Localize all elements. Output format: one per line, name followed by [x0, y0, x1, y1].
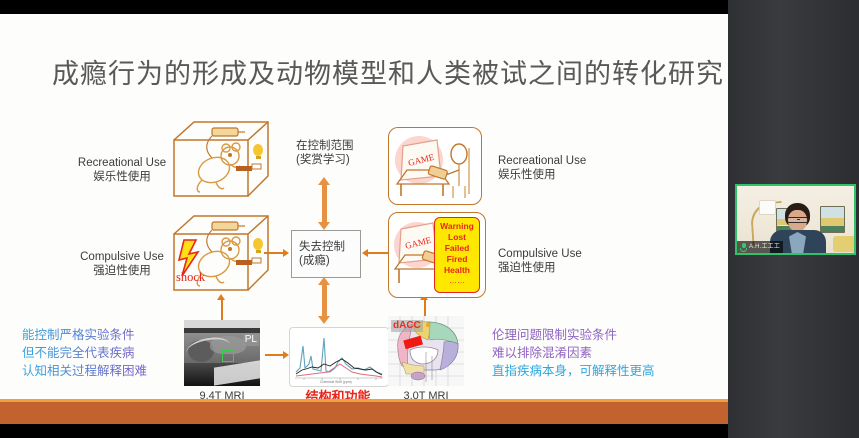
pl-roi-label: PL	[243, 334, 259, 346]
arrow-down-tip	[318, 222, 330, 230]
left-note-line: 能控制严格实验条件	[22, 327, 202, 345]
shock-label: shock	[176, 270, 205, 285]
participant-name: A.H.工工工	[749, 241, 780, 253]
presentation-slide: 成瘾行为的形成及动物模型和人类被试之间的转化研究 Recreational Us…	[0, 14, 728, 424]
label-en: Compulsive Use	[498, 247, 648, 261]
screen: A.H.工工工 成瘾行为的形成及动物模型和人类被试之间的转化研究 Recreat…	[0, 0, 859, 438]
label-compulsive-use-human: Compulsive Use 强迫性使用	[498, 247, 648, 275]
box-loss-of-control: 失去控制 (成瘾)	[291, 230, 361, 278]
arrow-up-tip-2	[318, 277, 330, 285]
arrow-tip-left	[362, 249, 368, 257]
loss-line2: (成瘾)	[292, 254, 360, 268]
label-recreational-use-human: Recreational Use 娱乐性使用	[498, 154, 648, 182]
slide-title: 成瘾行为的形成及动物模型和人类被试之间的转化研究	[52, 52, 692, 91]
warning-item: Warning	[440, 221, 474, 232]
human-brain-image: dACC	[388, 316, 464, 386]
rat-cage-compulsive: shock	[166, 204, 276, 296]
arrow-down-tip-2	[318, 316, 330, 324]
slide-footer-band	[0, 402, 728, 424]
arrow-game-to-box	[368, 252, 388, 254]
warning-list-box: Warning Lost Failed Fired Health ……	[434, 217, 480, 293]
microphone-icon[interactable]	[740, 243, 747, 252]
participant-shirt	[789, 232, 806, 255]
arrow-ratmri-to-spectrum	[265, 354, 284, 356]
arrow-box-to-spectrum	[322, 284, 327, 318]
arrow-tip-up	[217, 294, 225, 300]
label-in-control: 在控制范围 (奖赏学习)	[296, 139, 390, 167]
wall-picture-right	[820, 206, 845, 233]
glasses-icon	[787, 217, 808, 223]
game-panel-compulsive: GAME Warning Lost Failed Fired Health ……	[388, 212, 486, 298]
pl-roi-box	[222, 350, 234, 362]
arrow-control-to-loss	[322, 184, 327, 224]
label-cn: 娱乐性使用	[498, 168, 648, 182]
loss-line1: 失去控制	[292, 240, 360, 254]
in-control-line2: (奖赏学习)	[296, 153, 390, 167]
arrow-tip-right	[283, 249, 289, 257]
label-en: Recreational Use	[498, 154, 648, 168]
participant-video-tile[interactable]: A.H.工工工	[735, 184, 856, 255]
warning-item: Lost	[448, 232, 466, 243]
in-control-line1: 在控制范围	[296, 139, 390, 153]
arrow-up-tip	[318, 177, 330, 185]
warning-item: Failed	[445, 243, 470, 254]
dacc-roi-label: dACC	[391, 320, 423, 332]
left-note-line: 认知相关过程解释困难	[22, 363, 202, 381]
right-note-line: 难以排除混淆因素	[492, 345, 702, 363]
arrow-cage-to-box	[264, 252, 284, 254]
svg-text:Chemical Shift (ppm): Chemical Shift (ppm)	[320, 380, 352, 384]
left-note: 能控制严格实验条件 但不能完全代表疾病 认知相关过程解释困难	[22, 327, 202, 380]
right-note-line: 直指疾病本身，可解释性更高	[492, 363, 702, 381]
right-note: 伦理问题限制实验条件 难以排除混淆因素 直指疾病本身，可解释性更高	[492, 327, 702, 380]
warning-item: ……	[449, 276, 465, 285]
warning-item: Fired	[447, 254, 468, 265]
warning-item: Health	[444, 265, 470, 276]
couch	[833, 236, 856, 252]
lamp-shade	[759, 200, 776, 215]
right-note-line: 伦理问题限制实验条件	[492, 327, 702, 345]
participant-name-bar: A.H.工工工	[737, 241, 783, 253]
mrs-spectrum-panel: Chemical Shift (ppm)	[289, 327, 389, 387]
label-cn: 强迫性使用	[498, 261, 648, 275]
game-panel-recreational: GAME	[388, 127, 482, 205]
left-note-line: 但不能完全代表疾病	[22, 345, 202, 363]
rat-cage-recreational	[166, 114, 276, 202]
arrow-mri-to-cage	[221, 300, 223, 320]
